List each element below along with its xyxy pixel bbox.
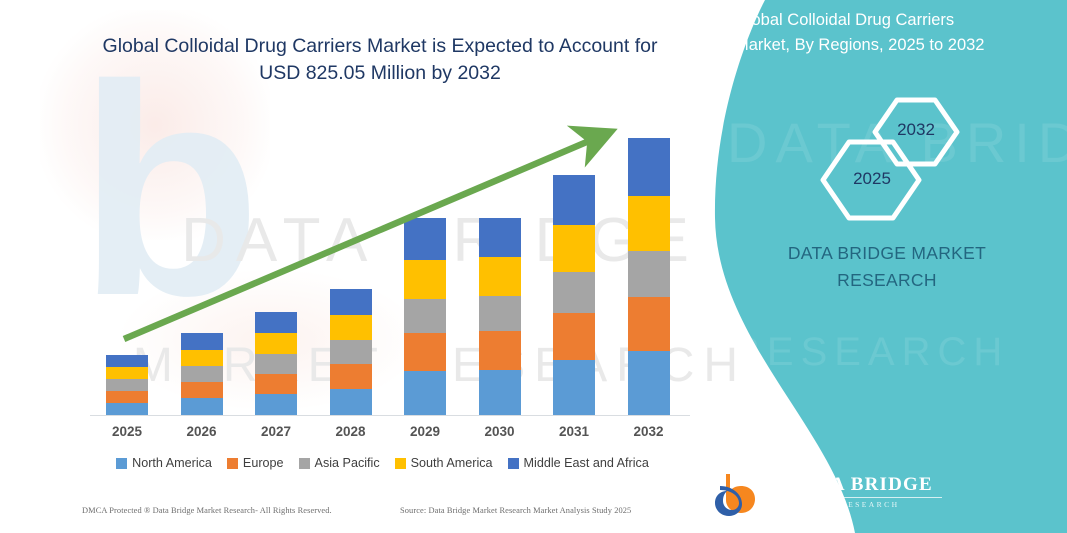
x-axis-tick-2032: 2032	[612, 424, 686, 439]
chart-title-line-2: USD 825.05 Million by 2032	[259, 62, 501, 84]
bar-segment	[330, 389, 372, 415]
legend-label: Middle East and Africa	[524, 456, 649, 470]
side-panel-title: Global Colloidal Drug Carriers Market, B…	[735, 8, 991, 58]
legend-item-middle-east-and-africa[interactable]: Middle East and Africa	[508, 456, 649, 470]
bar-segment	[255, 374, 297, 394]
bar-column-2026	[165, 333, 239, 415]
legend-swatch-icon	[227, 458, 238, 469]
stacked-bar	[404, 218, 446, 415]
hexagon-badge-2025: 2025	[837, 169, 907, 189]
bar-segment	[181, 398, 223, 415]
hexagon-badge-2032: 2032	[881, 120, 951, 140]
bar-segment	[106, 355, 148, 367]
stacked-bar	[553, 175, 595, 415]
x-axis-tick-2029: 2029	[388, 424, 462, 439]
x-axis-labels: 20252026202720282029203020312032	[70, 424, 695, 446]
stacked-bar	[330, 289, 372, 415]
bar-segment	[106, 391, 148, 403]
bar-segment	[106, 367, 148, 379]
bar-segment	[404, 218, 446, 260]
hexagon-outlines-icon	[727, 96, 1047, 226]
bar-segment	[628, 138, 670, 196]
bar-segment	[628, 297, 670, 351]
legend-label: South America	[411, 456, 493, 470]
stacked-bars-group	[70, 115, 695, 415]
x-axis-tick-2030: 2030	[463, 424, 537, 439]
data-bridge-monogram-icon	[712, 470, 788, 518]
stacked-bar	[479, 218, 521, 415]
logo-subtitle: MARKET RESEARCH	[790, 500, 942, 509]
chart-title: Global Colloidal Drug Carriers Market is…	[60, 33, 700, 87]
side-brand-line-1: DATA BRIDGE MARKET	[788, 243, 986, 263]
bar-column-2028	[314, 289, 388, 415]
bar-segment	[255, 312, 297, 333]
bar-segment	[404, 371, 446, 415]
bar-segment	[404, 260, 446, 299]
bar-segment	[255, 354, 297, 374]
bar-column-2031	[537, 175, 611, 415]
bar-segment	[181, 333, 223, 350]
bar-segment	[404, 333, 446, 371]
bar-segment	[330, 315, 372, 340]
bar-segment	[404, 299, 446, 333]
legend-label: Asia Pacific	[315, 456, 380, 470]
bar-segment	[553, 272, 595, 313]
bar-segment	[181, 382, 223, 398]
bar-segment	[479, 296, 521, 331]
legend-item-south-america[interactable]: South America	[395, 456, 493, 470]
bar-segment	[553, 175, 595, 225]
axis-baseline	[90, 415, 690, 416]
company-logo: DATA BRIDGE MARKET RESEARCH	[712, 470, 912, 522]
x-axis-tick-2031: 2031	[537, 424, 611, 439]
side-panel-brand: DATA BRIDGE MARKET RESEARCH	[737, 240, 1037, 294]
bar-segment	[330, 289, 372, 315]
bar-segment	[255, 394, 297, 415]
bar-column-2025	[90, 355, 164, 415]
footer-source: Source: Data Bridge Market Research Mark…	[400, 506, 631, 515]
bar-column-2027	[239, 312, 313, 415]
x-axis-tick-2028: 2028	[314, 424, 388, 439]
bar-segment	[553, 313, 595, 360]
legend-label: Europe	[243, 456, 284, 470]
bar-segment	[479, 331, 521, 370]
x-axis-tick-2025: 2025	[90, 424, 164, 439]
bar-segment	[106, 379, 148, 391]
bar-segment	[628, 251, 670, 297]
hexagon-badges-group: 2032 2025	[727, 96, 1047, 226]
bar-segment	[255, 333, 297, 354]
chart-legend: North AmericaEuropeAsia PacificSouth Ame…	[70, 456, 695, 470]
bar-column-2030	[463, 218, 537, 415]
bar-segment	[330, 364, 372, 389]
bar-segment	[181, 366, 223, 382]
side-brand-line-2: RESEARCH	[837, 270, 937, 290]
side-watermark-line-2: RESEARCH	[731, 330, 1061, 375]
footer-bar: DMCA Protected ® Data Bridge Market Rese…	[0, 506, 760, 528]
x-axis-tick-2027: 2027	[239, 424, 313, 439]
bar-segment	[330, 340, 372, 364]
x-axis-tick-2026: 2026	[165, 424, 239, 439]
stacked-bar	[628, 138, 670, 415]
bar-segment	[628, 351, 670, 415]
legend-label: North America	[132, 456, 212, 470]
stacked-bar	[181, 333, 223, 415]
bar-segment	[181, 350, 223, 366]
stacked-bar	[255, 312, 297, 415]
plot-area	[70, 110, 695, 416]
stacked-bar	[106, 355, 148, 415]
bar-column-2032	[612, 138, 686, 415]
bar-segment	[628, 196, 670, 251]
bar-segment	[553, 360, 595, 415]
legend-item-asia-pacific[interactable]: Asia Pacific	[299, 456, 380, 470]
infographic-canvas: b DATA BRIDGE MARKET RESEARCH Global Col…	[0, 0, 1067, 533]
bar-segment	[553, 225, 595, 272]
bar-segment	[479, 370, 521, 415]
chart-title-line-1: Global Colloidal Drug Carriers Market is…	[103, 35, 658, 57]
bar-segment	[479, 218, 521, 257]
side-panel-content: DATA BRIDGE RESEARCH Global Colloidal Dr…	[707, 0, 1067, 533]
logo-text-block: DATA BRIDGE MARKET RESEARCH	[790, 474, 942, 509]
legend-swatch-icon	[508, 458, 519, 469]
legend-item-north-america[interactable]: North America	[116, 456, 212, 470]
legend-swatch-icon	[299, 458, 310, 469]
footer-copyright: DMCA Protected ® Data Bridge Market Rese…	[82, 506, 332, 515]
side-panel: DATA BRIDGE RESEARCH Global Colloidal Dr…	[707, 0, 1067, 533]
bar-segment	[479, 257, 521, 296]
legend-item-europe[interactable]: Europe	[227, 456, 284, 470]
bar-column-2029	[388, 218, 462, 415]
legend-swatch-icon	[116, 458, 127, 469]
logo-title: DATA BRIDGE	[790, 474, 942, 495]
logo-divider	[790, 497, 942, 498]
bar-segment	[106, 403, 148, 415]
chart-panel: b DATA BRIDGE MARKET RESEARCH Global Col…	[0, 0, 760, 533]
legend-swatch-icon	[395, 458, 406, 469]
